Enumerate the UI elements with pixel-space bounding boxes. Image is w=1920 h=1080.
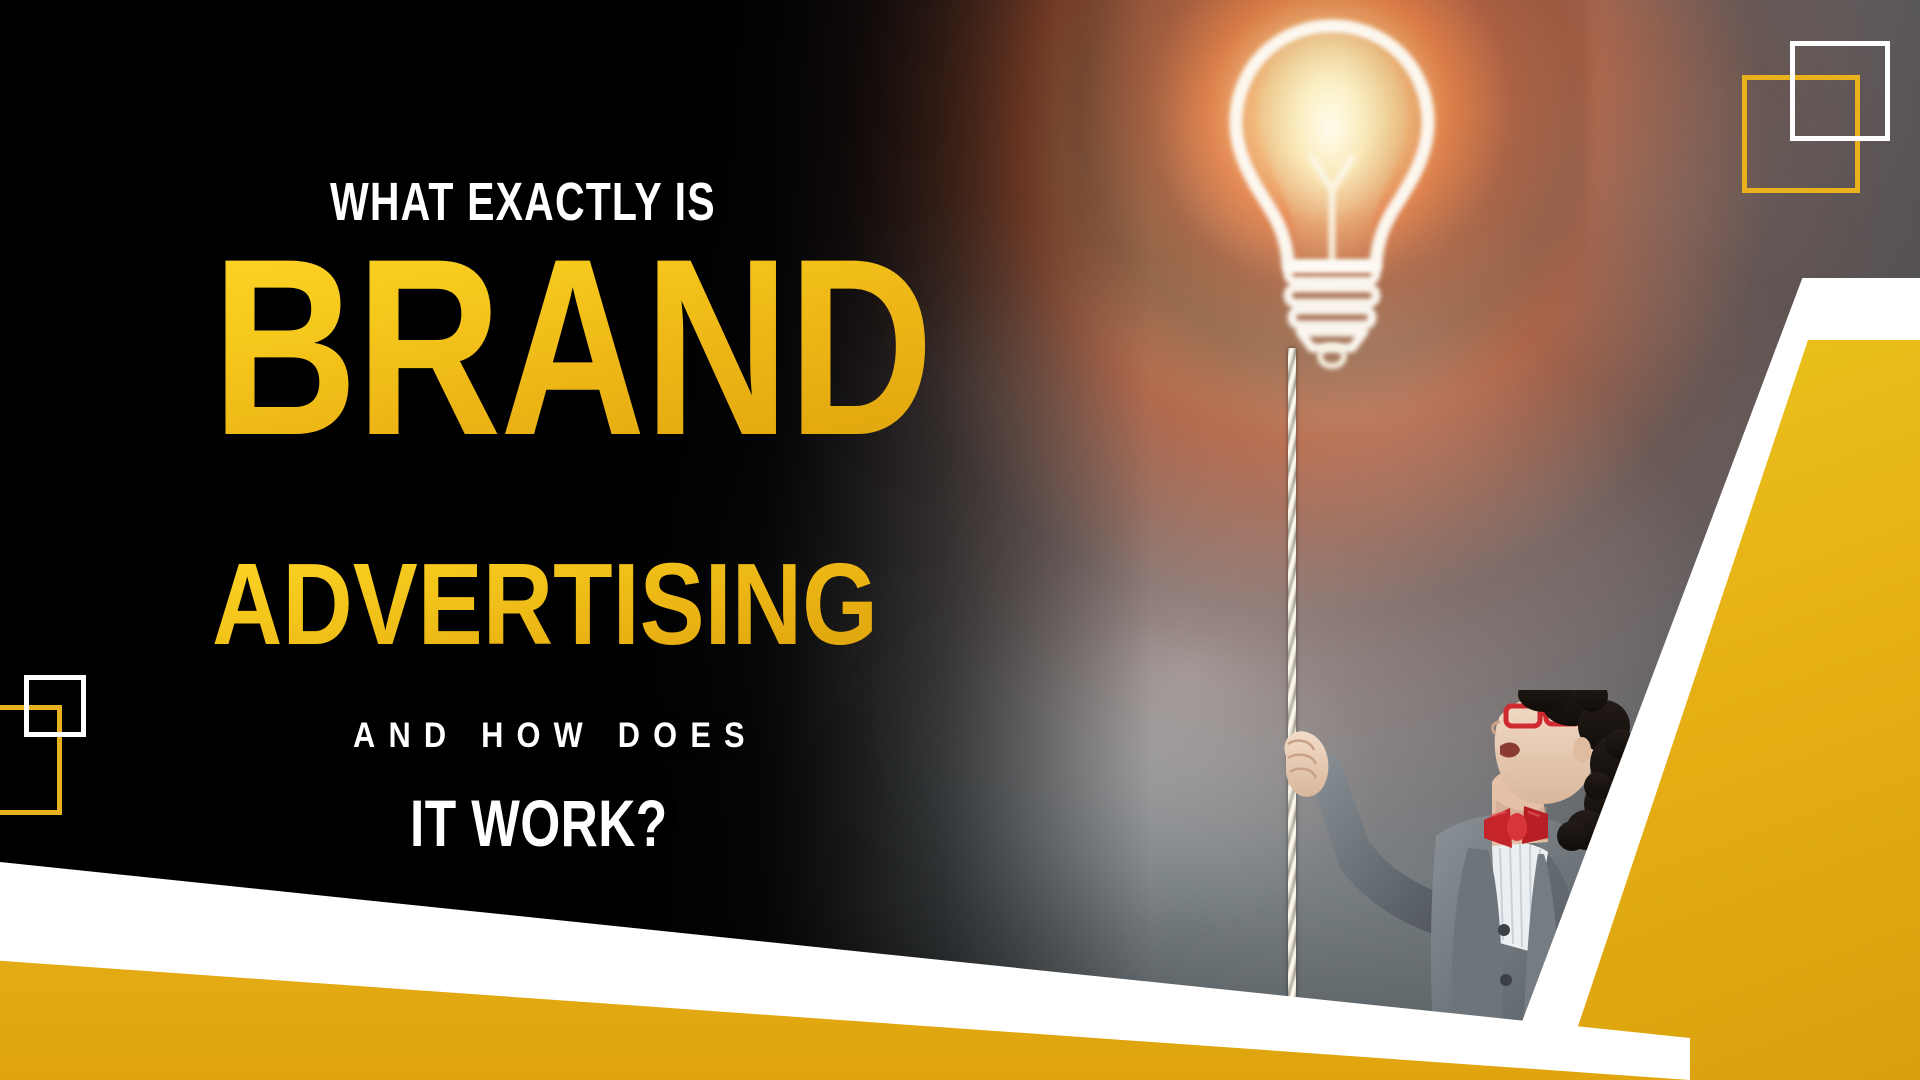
headline-sub-advertising: ADVERTISING [212, 546, 878, 662]
brand-advertising-banner: WHAT EXACTLY IS BRAND ADVERTISING AND HO… [0, 0, 1920, 1080]
lightbulb-icon [1160, 0, 1500, 420]
headline-question-line-1: AND HOW DOES [353, 716, 758, 756]
headline-question-line-2: IT WORK? [410, 785, 668, 861]
headline-main-brand: BRAND [212, 245, 932, 452]
lightbulb-group [1160, 0, 1500, 420]
decor-square-white-top-right [1790, 41, 1890, 141]
decor-square-white-left [24, 675, 86, 737]
